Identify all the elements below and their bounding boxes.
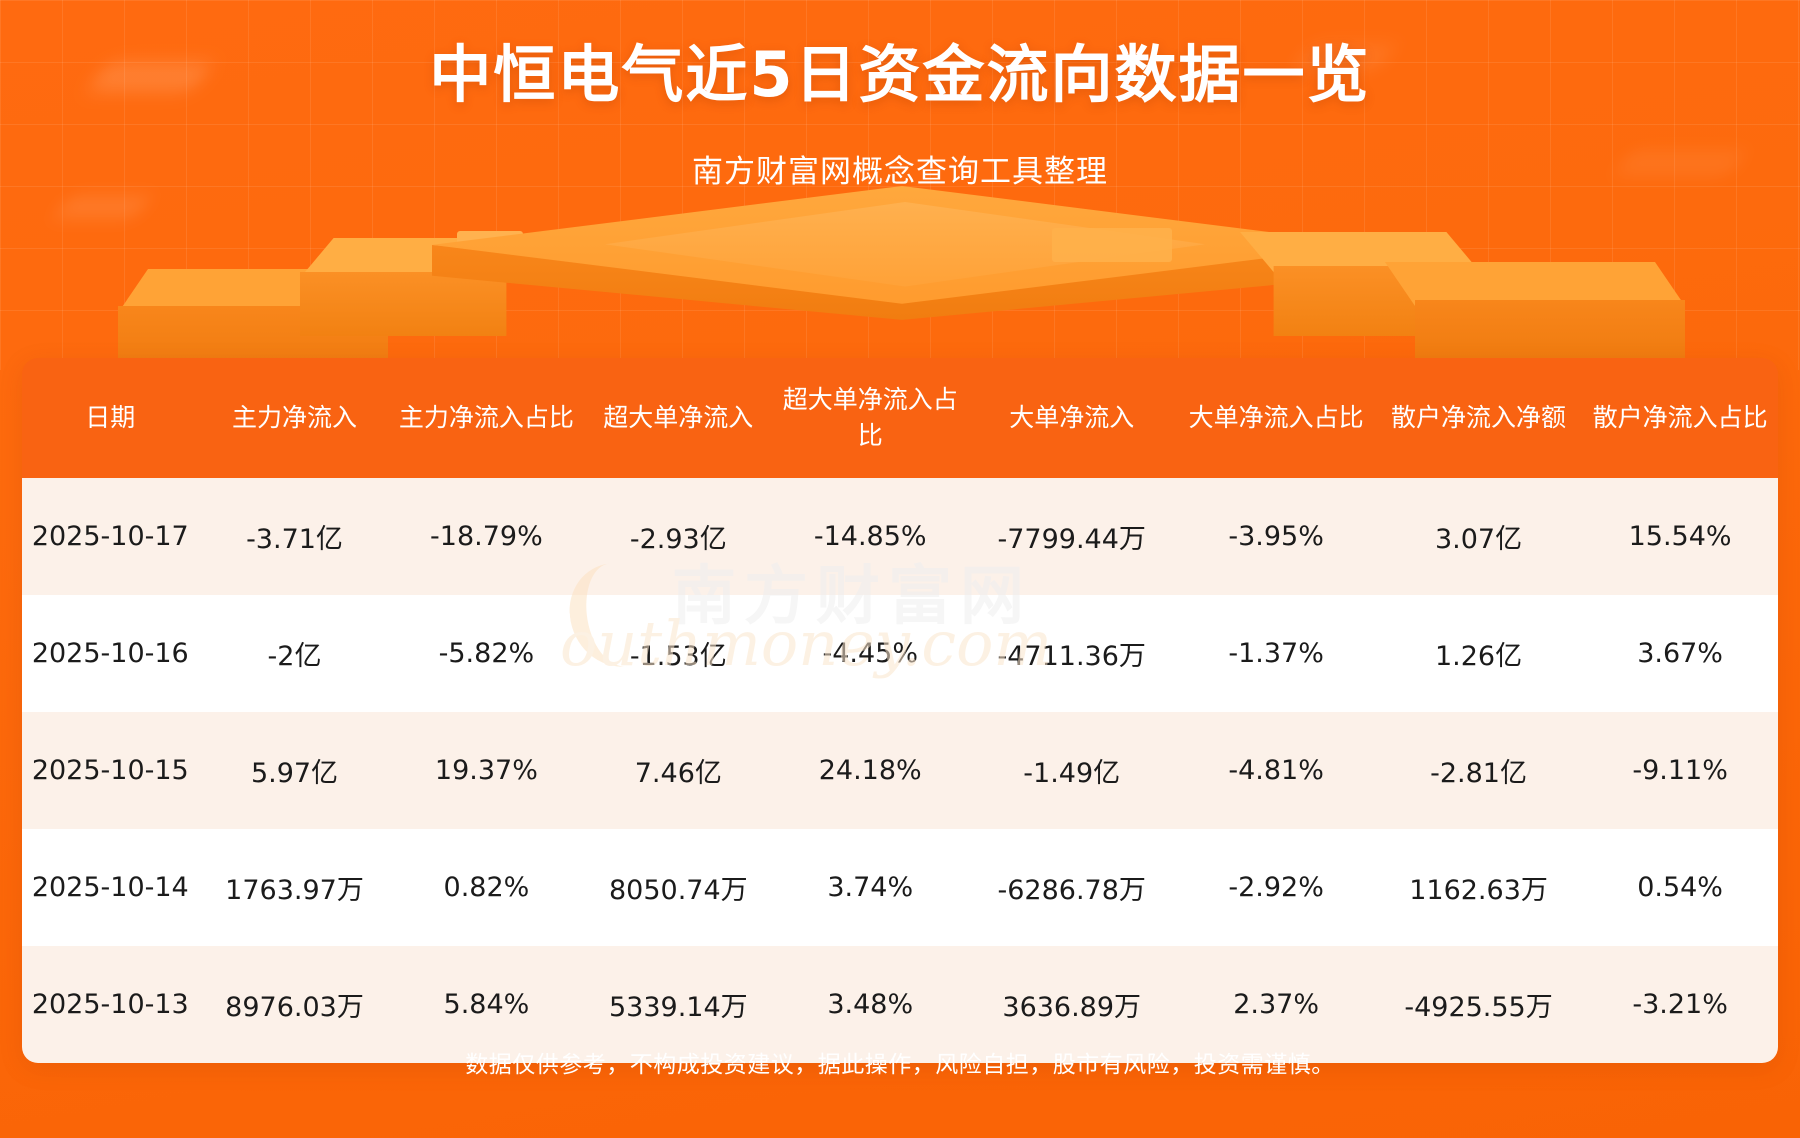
cell-super-large-pct: 3.74%	[774, 829, 966, 946]
cell-retail: 1.26亿	[1375, 595, 1582, 712]
cell-large: -7799.44万	[966, 478, 1177, 595]
disclaimer-text: 数据仅供参考，不构成投资建议，据此操作，风险自担，股市有风险，投资需谨慎。	[0, 1045, 1800, 1079]
podium-platform-inner	[605, 202, 1205, 290]
table-body: 2025-10-17 -3.71亿 -18.79% -2.93亿 -14.85%…	[22, 478, 1778, 1063]
cell-retail-pct: 3.67%	[1582, 595, 1778, 712]
cell-retail: -2.81亿	[1375, 712, 1582, 829]
podium-block-left-top	[118, 269, 418, 313]
page-subtitle: 南方财富网概念查询工具整理	[0, 146, 1800, 191]
column-header-main-net-inflow-pct: 主力净流入占比	[390, 358, 582, 478]
podium-block-left2-body	[300, 272, 540, 336]
podium-platform-front	[432, 245, 1372, 341]
column-header-main-net-inflow: 主力净流入	[199, 358, 391, 478]
cell-large-pct: -1.37%	[1177, 595, 1375, 712]
column-header-date: 日期	[22, 358, 199, 478]
cell-large: -4711.36万	[966, 595, 1177, 712]
table-row: 2025-10-16 -2亿 -5.82% -1.53亿 -4.45% -471…	[22, 595, 1778, 712]
cell-large-pct: -4.81%	[1177, 712, 1375, 829]
cell-super-large-pct: 24.18%	[774, 712, 966, 829]
table-row: 2025-10-17 -3.71亿 -18.79% -2.93亿 -14.85%…	[22, 478, 1778, 595]
cell-large-pct: -2.92%	[1177, 829, 1375, 946]
column-header-large-net-inflow: 大单净流入	[966, 358, 1177, 478]
cell-large-pct: -3.95%	[1177, 478, 1375, 595]
cell-date: 2025-10-17	[22, 478, 199, 595]
cell-large: -1.49亿	[966, 712, 1177, 829]
cell-super-large-pct: -4.45%	[774, 595, 966, 712]
page-title: 中恒电气近5日资金流向数据一览	[0, 36, 1800, 114]
column-header-super-large-pct: 超大单净流入占比	[774, 358, 966, 478]
table-row: 2025-10-15 5.97亿 19.37% 7.46亿 24.18% -1.…	[22, 712, 1778, 829]
cell-main-pct: 19.37%	[390, 712, 582, 829]
cell-main-net-inflow: -2亿	[199, 595, 391, 712]
fund-flow-table: 日期 主力净流入 主力净流入占比 超大单净流入 超大单净流入占比 大单净流入 大…	[22, 358, 1778, 1063]
cell-large: -6286.78万	[966, 829, 1177, 946]
cell-date: 2025-10-15	[22, 712, 199, 829]
cell-retail: 1162.63万	[1375, 829, 1582, 946]
cell-main-net-inflow: 5.97亿	[199, 712, 391, 829]
podium-illustration	[0, 176, 1800, 376]
cell-main-pct: -5.82%	[390, 595, 582, 712]
cell-date: 2025-10-16	[22, 595, 199, 712]
column-header-large-net-inflow-pct: 大单净流入占比	[1177, 358, 1375, 478]
cell-retail-pct: -9.11%	[1582, 712, 1778, 829]
table-row: 2025-10-14 1763.97万 0.82% 8050.74万 3.74%…	[22, 829, 1778, 946]
column-header-retail-net-inflow-pct: 散户净流入占比	[1582, 358, 1778, 478]
page-root: 中恒电气近5日资金流向数据一览 南方财富网概念查询工具整理 日期 主力净流入 主…	[0, 0, 1800, 1138]
cell-retail-pct: 15.54%	[1582, 478, 1778, 595]
cell-super-large-pct: -14.85%	[774, 478, 966, 595]
podium-cube-left	[457, 231, 523, 275]
podium-block-right-top	[1385, 262, 1685, 306]
cell-retail-pct: 0.54%	[1582, 829, 1778, 946]
column-header-retail-net-inflow: 散户净流入净额	[1375, 358, 1582, 478]
podium-block-right2-body	[1240, 266, 1480, 336]
cell-main-net-inflow: -3.71亿	[199, 478, 391, 595]
cell-super-large: 8050.74万	[582, 829, 774, 946]
column-header-super-large-net-inflow: 超大单净流入	[582, 358, 774, 478]
cell-super-large: -1.53亿	[582, 595, 774, 712]
data-table-card: 日期 主力净流入 主力净流入占比 超大单净流入 超大单净流入占比 大单净流入 大…	[22, 358, 1778, 1063]
table-header: 日期 主力净流入 主力净流入占比 超大单净流入 超大单净流入占比 大单净流入 大…	[22, 358, 1778, 478]
cell-retail: 3.07亿	[1375, 478, 1582, 595]
cell-main-pct: 0.82%	[390, 829, 582, 946]
podium-platform-top	[432, 186, 1372, 314]
cell-super-large: 7.46亿	[582, 712, 774, 829]
cell-main-pct: -18.79%	[390, 478, 582, 595]
table-header-row: 日期 主力净流入 主力净流入占比 超大单净流入 超大单净流入占比 大单净流入 大…	[22, 358, 1778, 478]
cell-main-net-inflow: 1763.97万	[199, 829, 391, 946]
light-streak	[54, 196, 151, 218]
podium-cube-left-small	[530, 246, 576, 278]
podium-cube-right	[1052, 228, 1172, 262]
podium-block-left2-top	[300, 238, 540, 278]
cell-super-large: -2.93亿	[582, 478, 774, 595]
cell-date: 2025-10-14	[22, 829, 199, 946]
podium-block-right2-top	[1240, 232, 1480, 272]
